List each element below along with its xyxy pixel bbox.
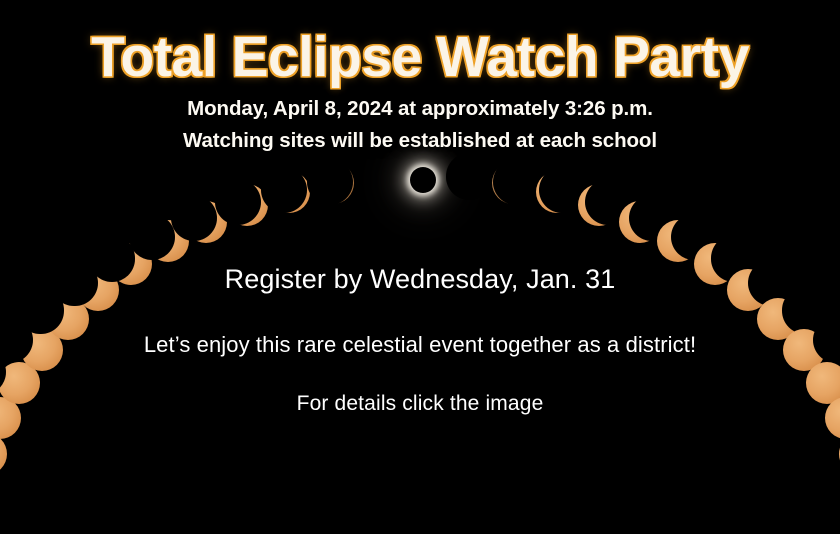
event-location-text: Watching sites will be established at ea… (0, 129, 840, 153)
event-datetime-text: Monday, April 8, 2024 at approximately 3… (0, 97, 840, 121)
invitation-text: Let’s enjoy this rare celestial event to… (0, 332, 840, 358)
poster-text-layer: Total Eclipse Watch Party Monday, April … (0, 0, 840, 534)
call-to-action-text: For details click the image (0, 392, 840, 416)
registration-deadline-text: Register by Wednesday, Jan. 31 (0, 264, 840, 295)
page-title: Total Eclipse Watch Party (13, 28, 828, 88)
eclipse-watch-party-poster[interactable]: Total Eclipse Watch Party Monday, April … (0, 0, 840, 534)
